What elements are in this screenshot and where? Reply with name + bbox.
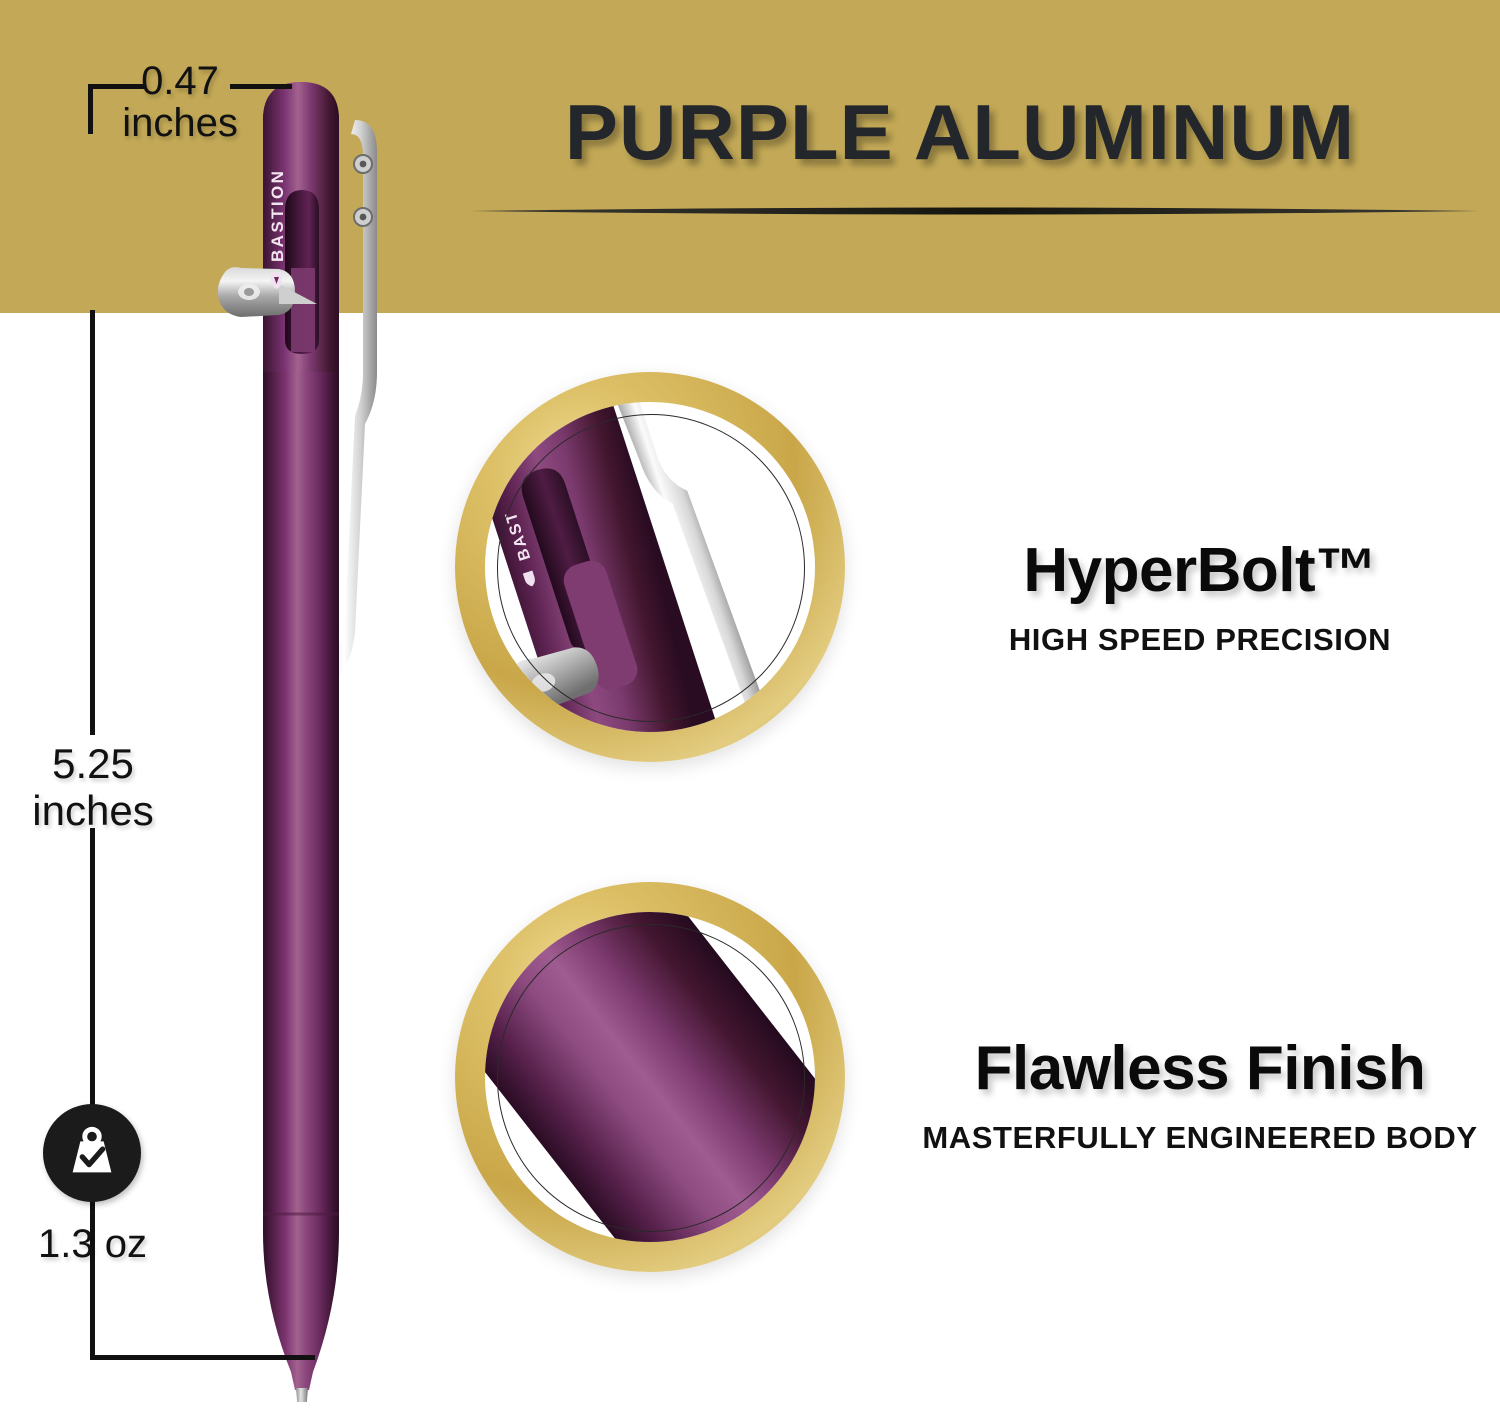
- page-title: PURPLE ALUMINUM: [445, 95, 1475, 170]
- feature-title-bolt: HyperBolt™: [930, 540, 1470, 602]
- weight-check-icon: [61, 1122, 123, 1184]
- feature-text-bolt: HyperBolt™ HIGH SPEED PRECISION: [930, 540, 1470, 660]
- feature-subtitle-bolt: HIGH SPEED PRECISION: [930, 620, 1470, 660]
- svg-text:BASTION: BASTION: [268, 169, 287, 262]
- length-dimension-label: 5.25 inches: [18, 740, 168, 834]
- length-dimension-line-top: [90, 310, 95, 735]
- callout-photo-bolt: BAST: [485, 402, 815, 732]
- weight-badge: [43, 1104, 141, 1202]
- width-unit: inches: [100, 102, 260, 144]
- feature-subtitle-finish: MASTERFULLY ENGINEERED BODY: [920, 1118, 1480, 1158]
- callout-ring-bolt: BAST: [455, 372, 845, 762]
- baseline-dimension-horizontal: [90, 1355, 315, 1360]
- product-pen-illustration: BASTION: [205, 72, 435, 1402]
- length-value: 5.25: [18, 740, 168, 787]
- feature-title-finish: Flawless Finish: [920, 1038, 1480, 1100]
- title-underline-flourish: [470, 204, 1480, 218]
- width-dimension-label: 0.47 inches: [100, 60, 260, 144]
- width-value: 0.47: [100, 60, 260, 102]
- brand-wordmark: BASTION: [268, 169, 287, 262]
- weight-label: 1.3 oz: [10, 1222, 175, 1267]
- pen-tip: [296, 1388, 308, 1402]
- width-dimension-left-tick: [88, 84, 93, 134]
- feature-text-finish: Flawless Finish MASTERFULLY ENGINEERED B…: [920, 1038, 1480, 1158]
- callout-ring-finish: [455, 882, 845, 1272]
- callout-photo-finish: [485, 912, 815, 1242]
- length-unit: inches: [18, 787, 168, 834]
- page-title-container: PURPLE ALUMINUM: [455, 95, 1465, 170]
- baseline-dimension-vertical: [90, 1300, 95, 1360]
